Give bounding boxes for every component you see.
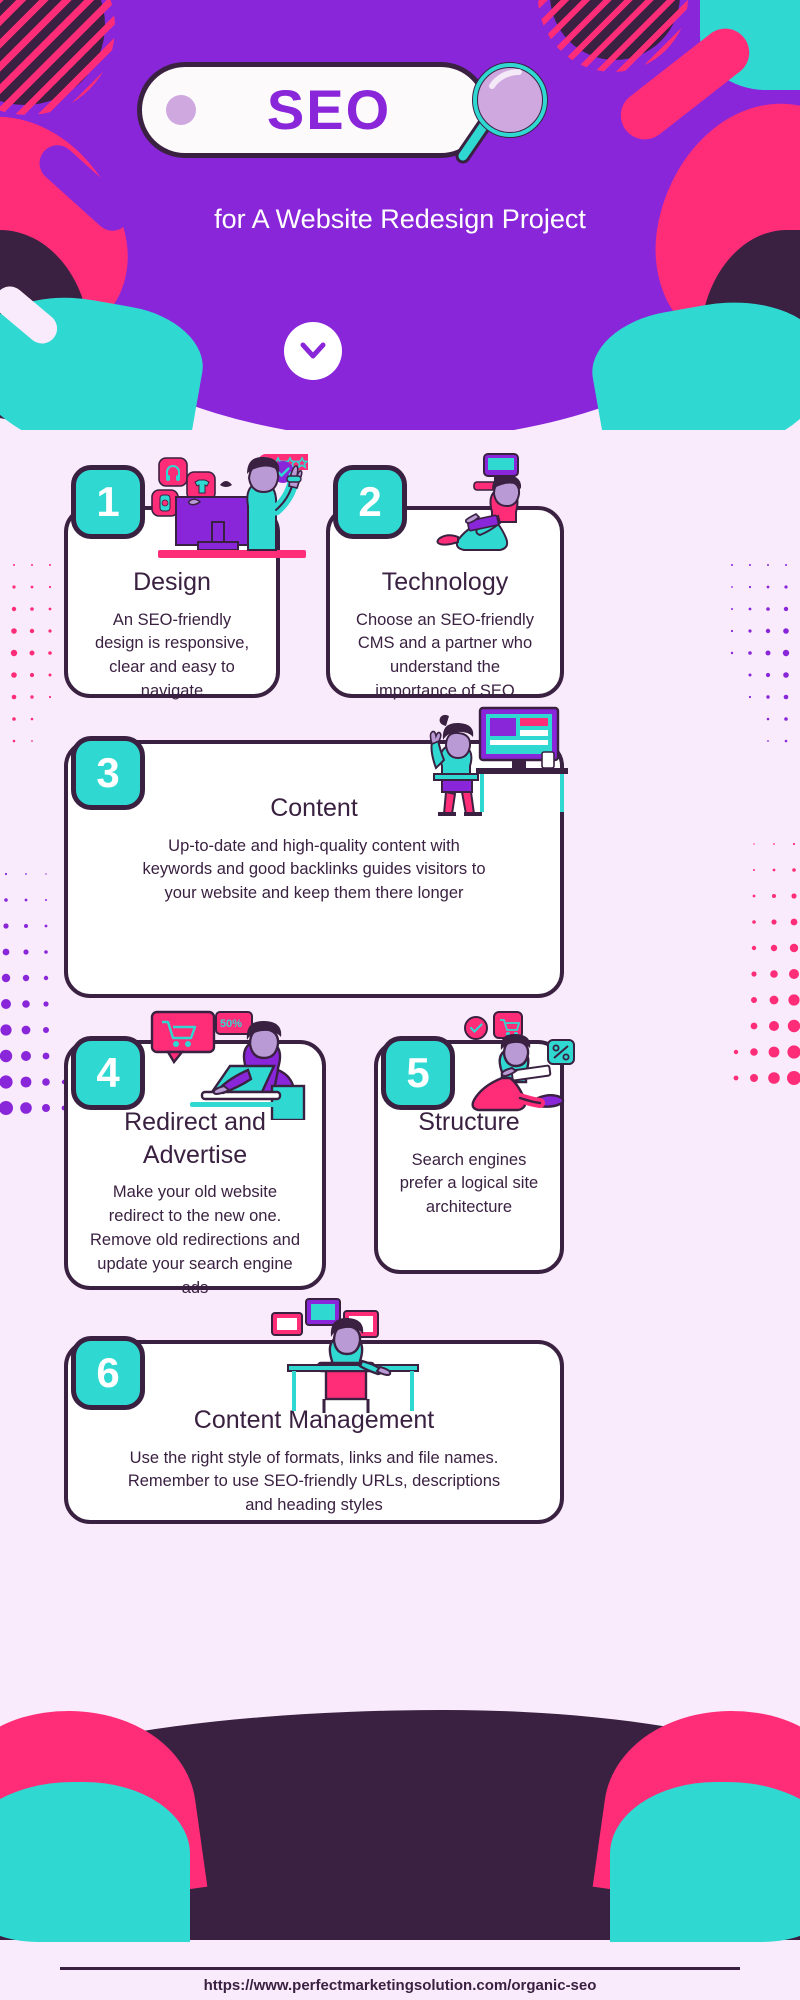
step-4-body: Make your old website redirect to the ne… xyxy=(72,1181,318,1301)
step-6-illustration xyxy=(270,1295,430,1418)
step-number-5: 5 xyxy=(381,1036,455,1110)
footer-teal-blob-left xyxy=(0,1782,190,1942)
step-2-illustration xyxy=(432,452,564,565)
halftone-dots-left-purple xyxy=(0,860,72,1150)
step-number-3: 3 xyxy=(71,736,145,810)
step-3-illustration xyxy=(418,706,570,821)
step-4-illustration: 50% xyxy=(150,1010,318,1125)
svg-text:50%: 50% xyxy=(220,1018,242,1030)
halftone-dots-right-purple xyxy=(724,555,794,755)
halftone-dots-right-pink xyxy=(728,830,800,1120)
footer-decor: https://www.perfectmarketingsolution.com… xyxy=(0,1640,800,2000)
footer-url[interactable]: https://www.perfectmarketingsolution.com… xyxy=(0,1977,800,1994)
step-1-title: Design xyxy=(74,566,270,599)
step-1-illustration xyxy=(148,450,308,565)
header-subtitle: for A Website Redesign Project xyxy=(130,200,670,238)
footer-teal-blob-right xyxy=(610,1782,800,1942)
step-2-title: Technology xyxy=(336,566,554,599)
seo-title-badge: SEO xyxy=(137,62,489,158)
step-6-body: Use the right style of formats, links an… xyxy=(112,1447,516,1519)
step-number-2: 2 xyxy=(333,465,407,539)
magnifying-glass-icon xyxy=(447,58,562,181)
header-banner: SEO for A Website Redesign Project xyxy=(0,0,800,430)
step-5-body: Search engines prefer a logical site arc… xyxy=(382,1149,556,1221)
step-number-6: 6 xyxy=(71,1336,145,1410)
seo-title-text: SEO xyxy=(196,82,484,138)
step-2-body: Choose an SEO-friendly CMS and a partner… xyxy=(336,609,554,705)
badge-dot-icon xyxy=(166,95,196,125)
footer-divider xyxy=(60,1967,740,1970)
step-1-body: An SEO-friendly design is responsive, cl… xyxy=(74,609,270,705)
step-5-illustration xyxy=(452,1010,588,1123)
step-number-1: 1 xyxy=(71,465,145,539)
step-3-body: Up-to-date and high-quality content with… xyxy=(128,835,500,907)
chevron-down-icon[interactable] xyxy=(284,322,342,380)
step-number-4: 4 xyxy=(71,1036,145,1110)
